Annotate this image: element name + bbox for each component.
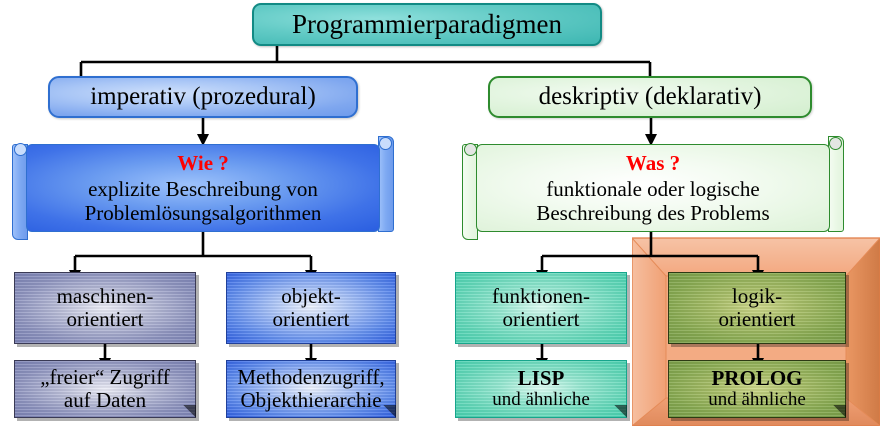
- scroll-imperative-line-1: explizite Beschreibung von: [88, 177, 318, 201]
- scroll-knob-left-icon: [464, 143, 477, 156]
- branch-descriptive-label: deskriptiv (deklarativ): [539, 83, 762, 111]
- leaf-lisp[interactable]: LISP und ähnliche: [455, 360, 627, 418]
- node-logic-oriented[interactable]: logik- orientiert: [668, 272, 846, 344]
- leaf-prolog-title: PROLOG: [711, 367, 802, 390]
- leaf-free-data-access-line-2: auf Daten: [64, 389, 146, 412]
- scroll-descriptive-body: Was ? funktionale oder logische Beschrei…: [476, 144, 830, 232]
- leaf-lisp-subtitle: und ähnliche: [492, 390, 590, 411]
- scroll-curl-right: [828, 136, 844, 232]
- leaf-method-access[interactable]: Methodenzugriff, Objekthierarchie: [226, 360, 396, 418]
- branch-imperative-label: imperativ (prozedural): [90, 83, 316, 111]
- leaf-prolog[interactable]: PROLOG und ähnliche: [668, 360, 846, 418]
- scroll-descriptive-question: Was ?: [626, 151, 680, 176]
- node-object-oriented[interactable]: objekt- orientiert: [226, 272, 396, 344]
- node-function-oriented-line-1: funktionen-: [492, 285, 590, 308]
- node-machine-oriented[interactable]: maschinen- orientiert: [14, 272, 196, 344]
- scroll-imperative-question: Wie ?: [177, 151, 229, 176]
- scroll-knob-right-icon: [829, 137, 842, 150]
- node-object-oriented-line-1: objekt-: [281, 285, 340, 308]
- scroll-descriptive-line-2: Beschreibung des Problems: [536, 201, 769, 225]
- branch-descriptive-label-box[interactable]: deskriptiv (deklarativ): [488, 76, 812, 118]
- page-title-label: Programmierparadigmen: [292, 9, 562, 39]
- branch-imperative-label-box[interactable]: imperativ (prozedural): [48, 76, 358, 118]
- node-machine-oriented-line-2: orientiert: [67, 308, 144, 331]
- scroll-imperative-body: Wie ? explizite Beschreibung von Problem…: [26, 144, 380, 232]
- leaf-free-data-access-line-1: „freier“ Zugriff: [40, 366, 170, 389]
- node-logic-oriented-line-1: logik-: [732, 285, 782, 308]
- leaf-lisp-title: LISP: [518, 367, 565, 390]
- scroll-knob-right-icon: [379, 137, 392, 150]
- scroll-knob-left-icon: [14, 143, 27, 156]
- scroll-descriptive-line-1: funktionale oder logische: [546, 177, 759, 201]
- scroll-imperative-line-2: Problemlösungsalgorithmen: [85, 201, 322, 225]
- scroll-imperative: Wie ? explizite Beschreibung von Problem…: [12, 136, 394, 240]
- node-function-oriented[interactable]: funktionen- orientiert: [455, 272, 627, 344]
- page-title: Programmierparadigmen: [252, 3, 602, 46]
- node-machine-oriented-line-1: maschinen-: [57, 285, 154, 308]
- diagram-canvas: Programmierparadigmen imperativ (prozedu…: [0, 0, 880, 426]
- scroll-curl-right: [378, 136, 394, 232]
- node-function-oriented-line-2: orientiert: [503, 308, 580, 331]
- leaf-free-data-access[interactable]: „freier“ Zugriff auf Daten: [14, 360, 196, 418]
- node-logic-oriented-line-2: orientiert: [719, 308, 796, 331]
- leaf-method-access-line-2: Objekthierarchie: [240, 389, 381, 412]
- scroll-descriptive: Was ? funktionale oder logische Beschrei…: [462, 136, 844, 240]
- node-object-oriented-line-2: orientiert: [273, 308, 350, 331]
- leaf-prolog-subtitle: und ähnliche: [708, 390, 806, 411]
- leaf-method-access-line-1: Methodenzugriff,: [237, 366, 384, 389]
